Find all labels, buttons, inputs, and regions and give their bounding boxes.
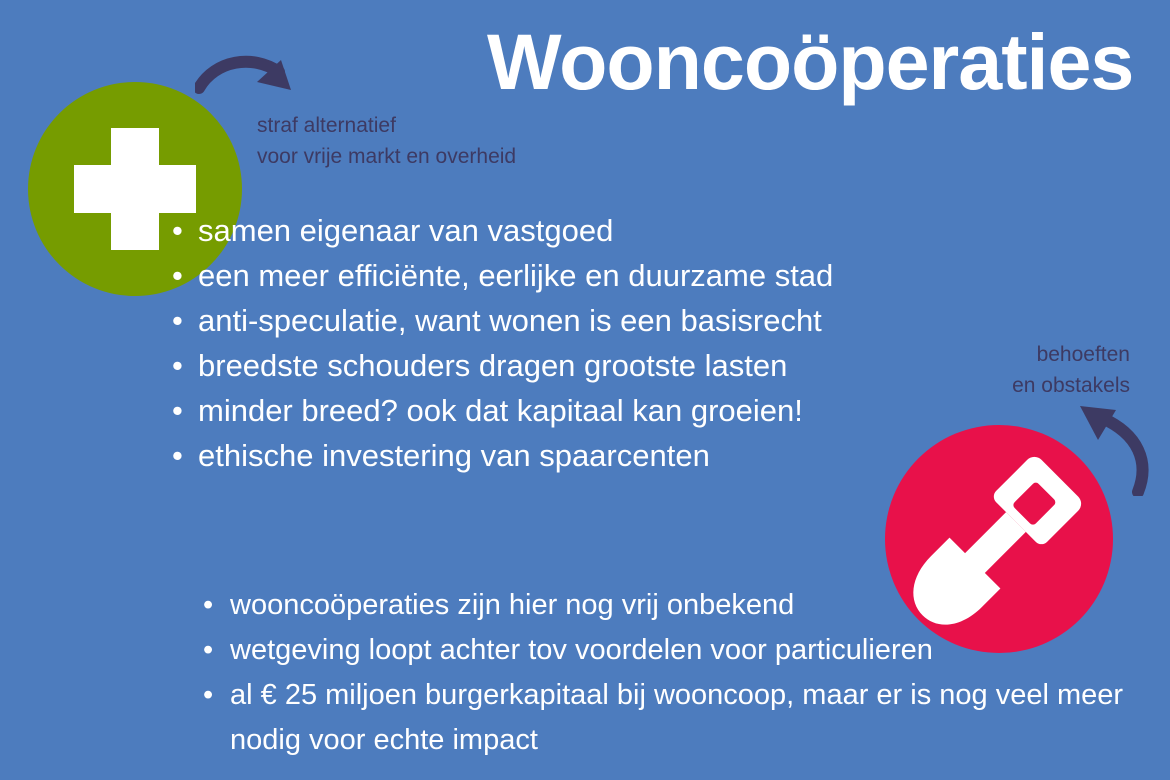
list-item: samen eigenaar van vastgoed [172,208,833,253]
list-item: een meer efficiënte, eerlijke en duurzam… [172,253,833,298]
annotation-right: behoeften en obstakels [958,339,1130,401]
slide-canvas: Wooncoöperaties straf alternatief voor v… [0,0,1170,780]
curved-arrow-right-icon [195,52,303,110]
plus-icon-vertical-bar [111,128,159,250]
annotation-left-line1: straf alternatief [257,110,516,141]
list-item: al € 25 miljoen burgerkapitaal bij woonc… [203,673,1143,763]
page-title: Wooncoöperaties [487,22,1133,101]
annotation-right-line2: en obstakels [958,370,1130,401]
list-item: breedste schouders dragen grootste laste… [172,343,833,388]
list-item: wooncoöperaties zijn hier nog vrij onbek… [203,583,1143,628]
annotation-left-line2: voor vrije markt en overheid [257,141,516,172]
list-item: wetgeving loopt achter tov voordelen voo… [203,628,1143,673]
bottom-bullet-list: wooncoöperaties zijn hier nog vrij onbek… [203,583,1143,763]
annotation-right-line1: behoeften [958,339,1130,370]
list-item: anti-speculatie, want wonen is een basis… [172,298,833,343]
list-item: ethische investering van spaarcenten [172,433,833,478]
list-item: minder breed? ook dat kapitaal kan groei… [172,388,833,433]
main-bullet-list: samen eigenaar van vastgoed een meer eff… [172,208,833,478]
curved-arrow-up-left-icon [1068,400,1154,496]
annotation-left: straf alternatief voor vrije markt en ov… [257,110,516,172]
